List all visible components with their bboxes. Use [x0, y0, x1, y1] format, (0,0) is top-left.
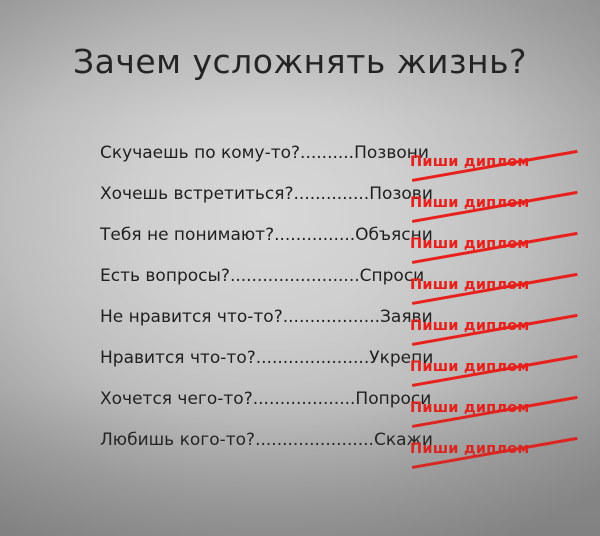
poster-title: Зачем усложнять жизнь? — [0, 42, 600, 81]
line-dots: ..................... — [256, 348, 369, 368]
line-dots: ............... — [274, 225, 355, 245]
poster-line: Есть вопросы?........................Спр… — [100, 266, 520, 307]
poster-line: Нравится что-то?.....................Укр… — [100, 348, 520, 389]
poster-line: Хочется чего-то?...................Попро… — [100, 389, 520, 430]
poster-line: Тебя не понимают?...............Объясни … — [100, 225, 520, 266]
line-dots: ...................... — [255, 430, 374, 450]
line-dots: .............. — [294, 184, 370, 204]
poster-line: Скучаешь по кому-то?..........Позвони Пи… — [100, 143, 520, 184]
line-question: Нравится что-то? — [100, 348, 256, 368]
poster-line: Любишь кого-то?......................Ска… — [100, 430, 520, 471]
line-overlay: Пиши диплом — [410, 450, 600, 491]
line-dots: ........................ — [230, 266, 360, 286]
line-question: Скучаешь по кому-то? — [100, 143, 300, 163]
line-question: Есть вопросы? — [100, 266, 230, 286]
line-dots: .......... — [300, 143, 354, 163]
line-question: Хочешь встретиться? — [100, 184, 294, 204]
poster-line: Хочешь встретиться?..............Позови … — [100, 184, 520, 225]
line-question: Тебя не понимают? — [100, 225, 274, 245]
poster-line: Не нравится что-то?..................Зая… — [100, 307, 520, 348]
line-question: Не нравится что-то? — [100, 307, 283, 327]
line-dots: ................... — [253, 389, 356, 409]
poster-line-list: Скучаешь по кому-то?..........Позвони Пи… — [100, 143, 520, 471]
poster-image: Зачем усложнять жизнь? Скучаешь по кому-… — [0, 0, 600, 536]
line-question: Любишь кого-то? — [100, 430, 255, 450]
line-dots: .................. — [283, 307, 380, 327]
line-question: Хочется чего-то? — [100, 389, 253, 409]
